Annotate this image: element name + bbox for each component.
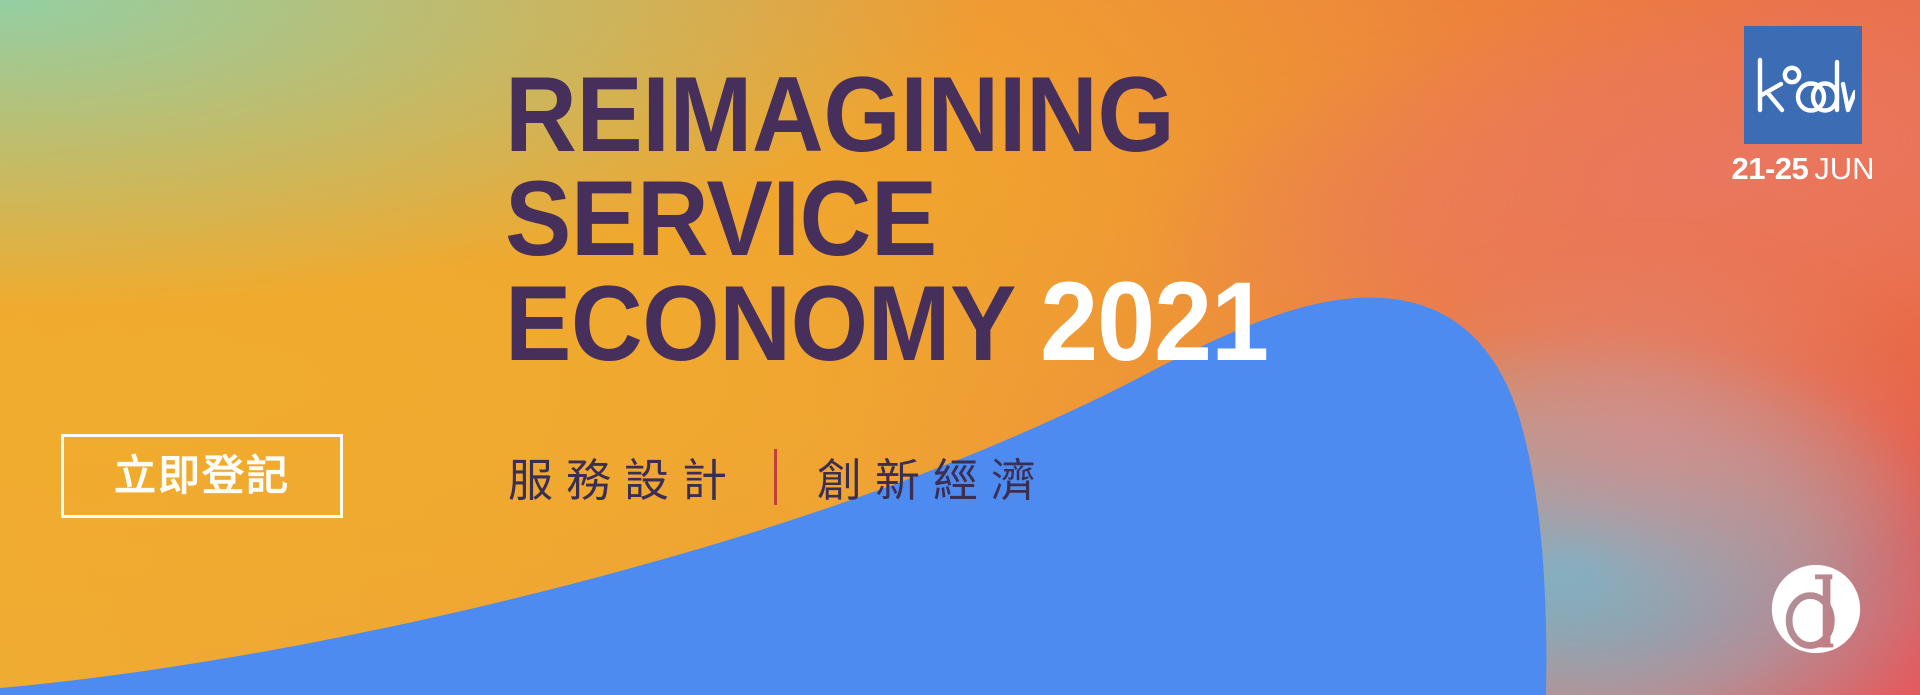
hkdc-d-logo-icon[interactable] bbox=[1768, 561, 1864, 657]
headline-year: 2021 bbox=[1040, 270, 1268, 374]
kodw-date-month: JUN bbox=[1814, 153, 1874, 184]
subtitle-divider bbox=[774, 449, 777, 505]
headline-line-2: SERVICE bbox=[505, 166, 1435, 270]
subtitle-service-design: 服務設計 bbox=[508, 444, 740, 509]
kodw-logo-block[interactable]: 21-25 JUN bbox=[1744, 26, 1862, 184]
register-now-label: 立即登記 bbox=[114, 455, 290, 497]
subtitle-innovation-economy: 創新經濟 bbox=[817, 444, 1049, 509]
kodw-2021-promo-banner: REIMAGINING SERVICE ECONOMY 2021 服務設計 創新… bbox=[0, 0, 1920, 695]
register-now-button[interactable]: 立即登記 bbox=[61, 434, 343, 518]
kodw-date-range: 21-25 bbox=[1731, 153, 1808, 184]
chinese-subtitle: 服務設計 創新經濟 bbox=[508, 444, 1049, 509]
headline-block: REIMAGINING SERVICE ECONOMY 2021 bbox=[505, 62, 1505, 375]
kodw-wordmark-icon bbox=[1751, 48, 1855, 122]
headline-line-1: REIMAGINING bbox=[505, 62, 1435, 166]
headline-economy-word: ECONOMY bbox=[505, 271, 1016, 375]
headline-line-3: ECONOMY 2021 bbox=[505, 270, 1435, 375]
kodw-logo-square bbox=[1744, 26, 1862, 144]
kodw-event-date: 21-25 JUN bbox=[1731, 153, 1874, 184]
